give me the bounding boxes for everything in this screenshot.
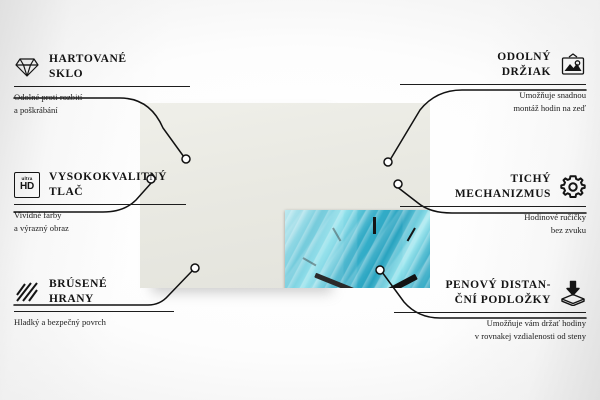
feature-foam-spacers: PENOVÝ DISTAN- ČNÍ PODLOŽKY Umožňuje vám… — [394, 278, 586, 342]
ultra-hd-icon: ultra HD — [14, 172, 40, 198]
feature-divider — [400, 84, 586, 85]
feature-divider — [14, 311, 174, 312]
clock-tick-10 — [302, 257, 316, 266]
feature-tempered-glass: HARTOVANÉ SKLO Odolné proti rozbití a po… — [14, 52, 200, 116]
picture-hanger-icon — [560, 52, 586, 78]
clock-tick-12 — [373, 217, 376, 234]
feature-description: Umožňuje snadnou montáž hodin na zeď — [400, 89, 586, 114]
polished-edges-icon — [14, 279, 40, 305]
feature-title: VYSOKOKVALITNÝ TLAČ — [49, 170, 167, 199]
feature-divider — [400, 206, 586, 207]
feature-head: PENOVÝ DISTAN- ČNÍ PODLOŽKY — [394, 278, 586, 307]
feature-title: HARTOVANÉ SKLO — [49, 52, 127, 81]
diamond-icon — [14, 54, 40, 80]
feature-description: Hladký a bezpečný povrch — [14, 316, 200, 328]
feature-head: HARTOVANÉ SKLO — [14, 52, 200, 81]
feature-divider — [14, 204, 186, 205]
feature-head: TICHÝ MECHANIZMUS — [400, 172, 586, 201]
feature-divider — [14, 86, 190, 87]
feature-head: ODOLNÝ DRŽIAK — [400, 50, 586, 79]
feature-description: Vividné farby a výrazný obraz — [14, 209, 200, 234]
feature-head: ultra HD VYSOKOKVALITNÝ TLAČ — [14, 170, 200, 199]
feature-polished-edges: BRÚSENÉ HRANY Hladký a bezpečný povrch — [14, 277, 200, 329]
feature-durable-hanger: ODOLNÝ DRŽIAK Umožňuje snadnou montáž ho… — [400, 50, 586, 114]
infographic-stage: HARTOVANÉ SKLO Odolné proti rozbití a po… — [0, 0, 600, 400]
feature-high-quality-print: ultra HD VYSOKOKVALITNÝ TLAČ Vividné far… — [14, 170, 200, 234]
feature-head: BRÚSENÉ HRANY — [14, 277, 200, 306]
feature-title: ODOLNÝ DRŽIAK — [400, 50, 551, 79]
feature-title: BRÚSENÉ HRANY — [49, 277, 107, 306]
feature-description: Odolné proti rozbití a poškrábání — [14, 91, 200, 116]
hd-badge: ultra HD — [14, 172, 40, 198]
clock-minute-hand — [314, 273, 375, 288]
feature-silent-mechanism: TICHÝ MECHANIZMUS Hodinové ručičky bez z… — [400, 172, 586, 236]
clock-tick-11 — [332, 227, 341, 241]
feature-title: TICHÝ MECHANIZMUS — [400, 172, 551, 201]
feature-divider — [394, 312, 586, 313]
feature-title: PENOVÝ DISTAN- ČNÍ PODLOŽKY — [394, 278, 551, 307]
foam-pad-arrow-icon — [560, 280, 586, 306]
feature-description: Umožňuje vám držať hodiny v rovnakej vzd… — [394, 317, 586, 342]
feature-description: Hodinové ručičky bez zvuku — [400, 211, 586, 236]
hd-main-label: HD — [20, 182, 34, 192]
gear-icon — [560, 174, 586, 200]
